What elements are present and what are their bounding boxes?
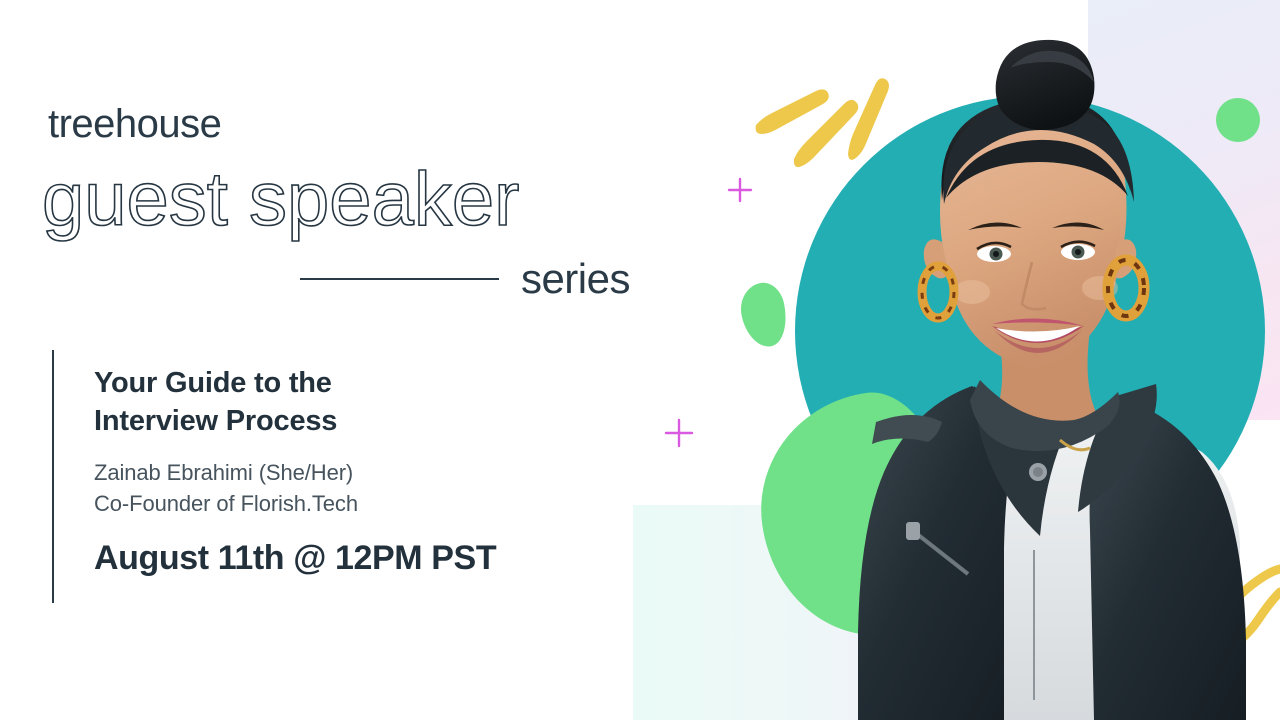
promo-slide: treehouse guest speaker series Your Guid… [0,0,1280,720]
green-blob-small-shape [736,279,792,351]
talk-title: Your Guide to the Interview Process [94,364,496,441]
talk-title-line-2: Interview Process [94,405,337,437]
speaker-role: Co-Founder of Florish.Tech [94,488,496,520]
event-info-block: Your Guide to the Interview Process Zain… [52,350,496,603]
talk-title-line-1: Your Guide to the [94,367,332,399]
speaker-portrait-photo [820,30,1280,720]
speaker-name: Zainab Ebrahimi (She/Her) [94,457,496,489]
series-row: series [300,258,630,300]
series-label: series [521,258,630,300]
event-date-time: August 11th @ 12PM PST [94,538,496,579]
brand-wordmark: treehouse [48,104,221,144]
series-divider-rule [300,278,499,280]
headline-outline-text: guest speaker [42,160,519,240]
